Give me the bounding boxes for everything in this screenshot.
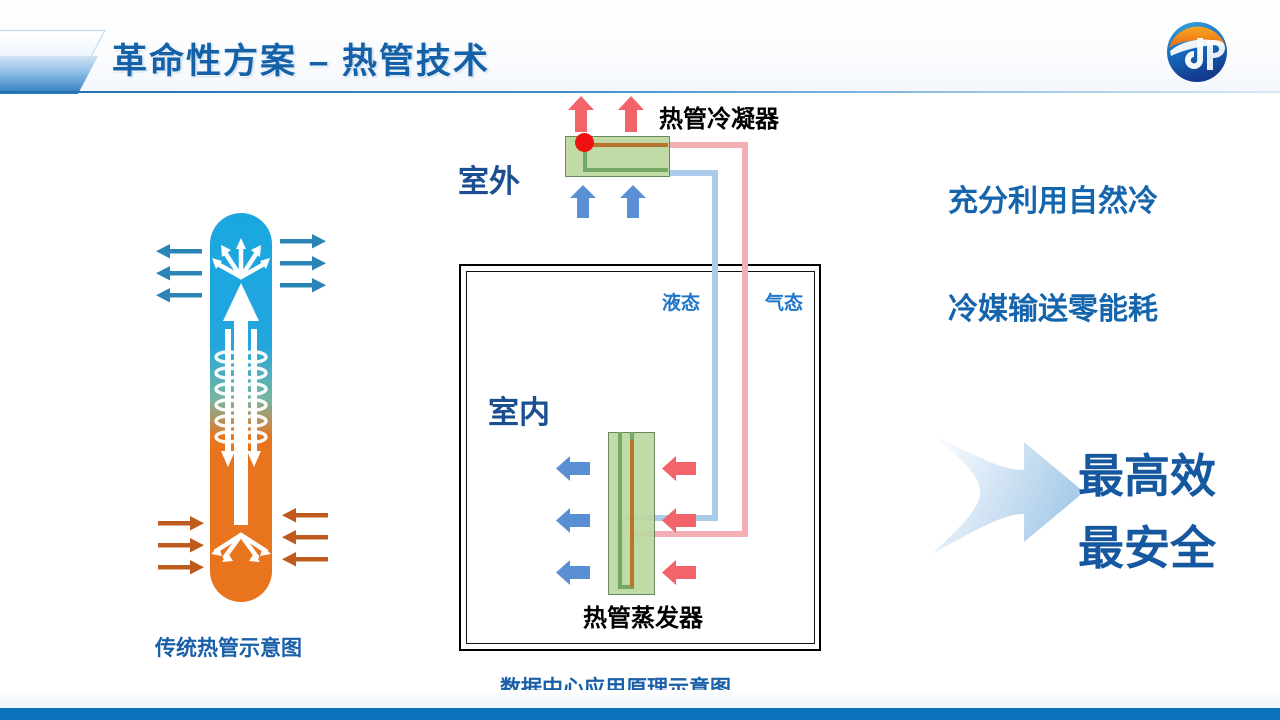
liquid-phase-label: 液态: [662, 288, 700, 315]
condenser-label: 热管冷凝器: [659, 99, 779, 134]
conclusion-text-1: 最高效: [1078, 440, 1216, 506]
header-divider-line: [0, 91, 1280, 93]
jp-globe-logo: [1163, 18, 1231, 86]
outdoor-label: 室外: [458, 156, 520, 201]
outdoor-cold-air-arrow-2: [620, 185, 646, 218]
evaporator-label: 热管蒸发器: [583, 598, 703, 633]
footer-gradient: [0, 690, 1280, 708]
indoor-hot-return-arrow-1: [662, 456, 696, 481]
outdoor-hot-air-arrow-2: [618, 96, 644, 132]
benefit-bullet-2: 冷媒输送零能耗: [948, 284, 1158, 328]
benefit-bullet-1: 充分利用自然冷: [948, 176, 1158, 220]
slide-root: 革命性方案 – 热管技术: [0, 0, 1280, 720]
indoor-cold-supply-arrow-2: [556, 508, 590, 533]
footer-bar: [0, 708, 1280, 720]
indoor-hot-return-arrow-3: [662, 560, 696, 585]
indoor-hot-return-arrow-2: [662, 508, 696, 533]
traditional-heat-pipe-illustration: [130, 205, 380, 610]
conclusion-text-2: 最安全: [1078, 512, 1216, 578]
page-title: 革命性方案 – 热管技术: [112, 33, 490, 84]
heat-pipe-evaporator-coil: [608, 432, 655, 595]
gas-phase-label: 气态: [765, 288, 803, 315]
condenser-sensor-dot: [575, 133, 594, 152]
indoor-label: 室内: [488, 387, 550, 432]
outdoor-cold-air-arrow-1: [570, 185, 596, 218]
big-right-arrow: [928, 428, 1088, 558]
indoor-cold-supply-arrow-1: [556, 456, 590, 481]
outdoor-hot-air-arrow-1: [568, 96, 594, 132]
indoor-cold-supply-arrow-3: [556, 560, 590, 585]
left-diagram-caption: 传统热管示意图: [155, 632, 302, 662]
